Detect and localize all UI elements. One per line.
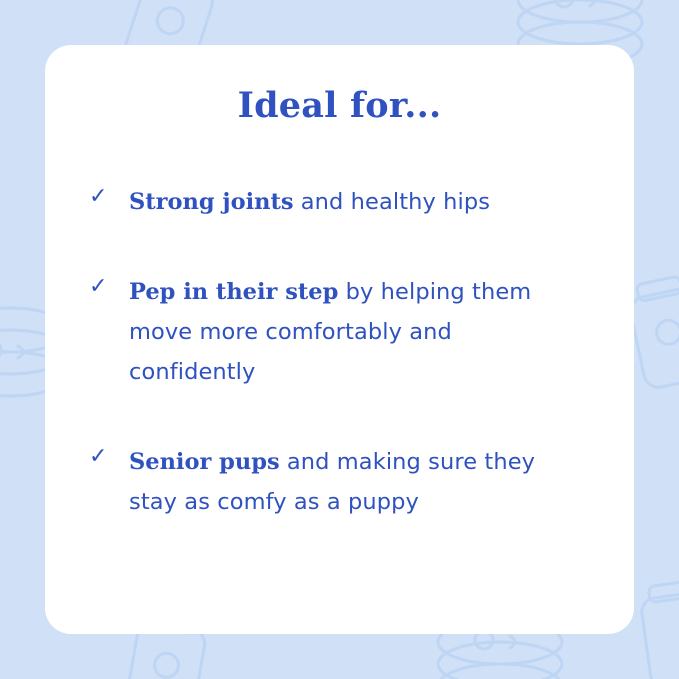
list-item: ✓ Strong joints and healthy hips	[89, 182, 590, 222]
list-item-text: Senior pups and making sure they stay as…	[129, 442, 549, 522]
content-card: Ideal for... ✓ Strong joints and healthy…	[45, 45, 634, 634]
list-item-emphasis: Pep in their step	[129, 279, 338, 305]
check-icon: ✓	[89, 272, 115, 302]
list-item-emphasis: Senior pups	[129, 449, 280, 475]
benefit-list: ✓ Strong joints and healthy hips ✓ Pep i…	[89, 182, 590, 522]
infographic-canvas: Ideal for... ✓ Strong joints and healthy…	[0, 0, 679, 679]
list-item-emphasis: Strong joints	[129, 189, 294, 215]
list-item-text: Strong joints and healthy hips	[129, 182, 490, 222]
list-item: ✓ Senior pups and making sure they stay …	[89, 442, 590, 522]
list-item-text: Pep in their step by helping them move m…	[129, 272, 549, 392]
check-icon: ✓	[89, 182, 115, 212]
check-icon: ✓	[89, 442, 115, 472]
page-title: Ideal for...	[89, 87, 590, 126]
list-item-rest: and healthy hips	[294, 189, 491, 215]
list-item: ✓ Pep in their step by helping them move…	[89, 272, 590, 392]
